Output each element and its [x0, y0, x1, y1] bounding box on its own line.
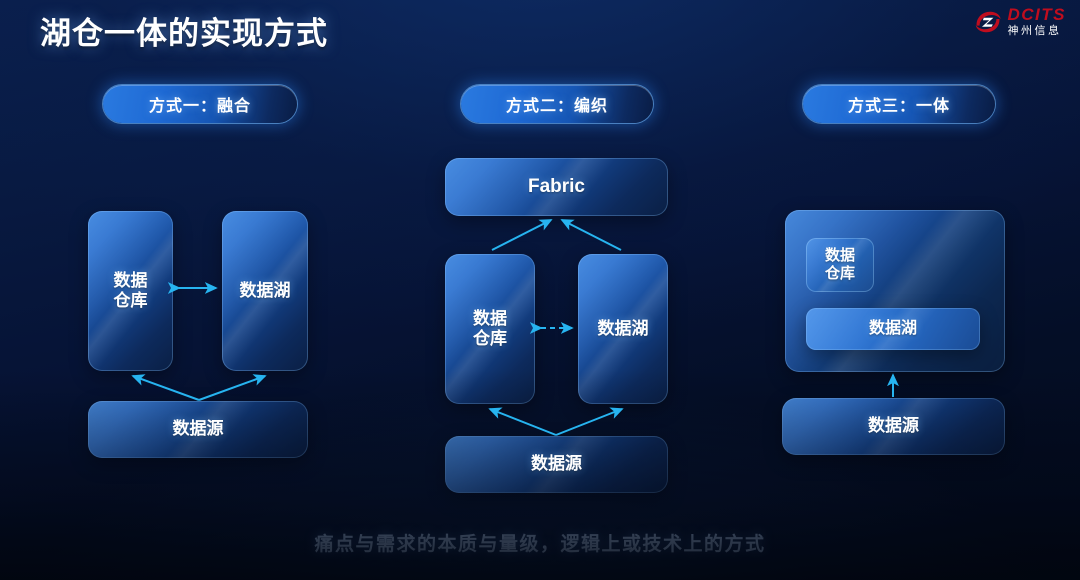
col3-warehouse-label: 数据仓库 [825, 247, 855, 282]
col3-source-card[interactable]: 数据源 [782, 398, 1005, 455]
col3-source-label: 数据源 [868, 416, 919, 436]
col2-link-source-warehouse [490, 409, 556, 435]
col1-warehouse-label: 数据仓库 [114, 271, 148, 311]
col2-warehouse-card[interactable]: 数据仓库 [445, 254, 535, 404]
col2-link-source-lake [556, 409, 622, 435]
approach-pill-3[interactable]: 方式三：一体 [803, 85, 995, 123]
col2-lake-card[interactable]: 数据湖 [578, 254, 668, 404]
logo-wordmark: DCITS 神州信息 [1008, 6, 1067, 37]
footer-note: 痛点与需求的本质与量级，逻辑上或技术上的方式 [0, 529, 1080, 556]
page-title: 湖仓一体的实现方式 [40, 8, 328, 53]
col2-fabric-label: Fabric [528, 176, 585, 198]
col2-link-warehouse-fabric [492, 220, 551, 250]
col1-lake-card[interactable]: 数据湖 [222, 211, 308, 371]
col1-link-source-warehouse [133, 376, 199, 400]
col2-link-lake-fabric [562, 220, 621, 250]
slide-canvas: 湖仓一体的实现方式 DCITS 神州信息 方式一：融合 方式二：编织 方式三：一… [0, 0, 1080, 580]
col1-source-card[interactable]: 数据源 [88, 401, 308, 458]
dcits-swoosh-icon [973, 7, 1003, 37]
col3-lake-label: 数据湖 [869, 320, 917, 339]
col2-warehouse-label: 数据仓库 [473, 309, 507, 349]
col3-unified-container[interactable]: 数据仓库 数据湖 [785, 210, 1005, 372]
col3-warehouse-card[interactable]: 数据仓库 [806, 238, 874, 292]
col1-link-source-lake [199, 376, 265, 400]
logo-text-cn: 神州信息 [1008, 26, 1067, 37]
col3-lake-card[interactable]: 数据湖 [806, 308, 980, 350]
col2-lake-label: 数据湖 [598, 319, 649, 339]
col1-source-label: 数据源 [173, 419, 224, 439]
col2-source-label: 数据源 [531, 454, 582, 474]
logo-text-en: DCITS [1008, 6, 1067, 23]
approach-pill-2[interactable]: 方式二：编织 [461, 85, 653, 123]
col1-lake-label: 数据湖 [240, 281, 291, 301]
col2-source-card[interactable]: 数据源 [445, 436, 668, 493]
col1-warehouse-card[interactable]: 数据仓库 [88, 211, 173, 371]
approach-pill-1[interactable]: 方式一：融合 [103, 85, 297, 123]
col2-fabric-card[interactable]: Fabric [445, 158, 668, 216]
brand-logo: DCITS 神州信息 [973, 6, 1067, 37]
